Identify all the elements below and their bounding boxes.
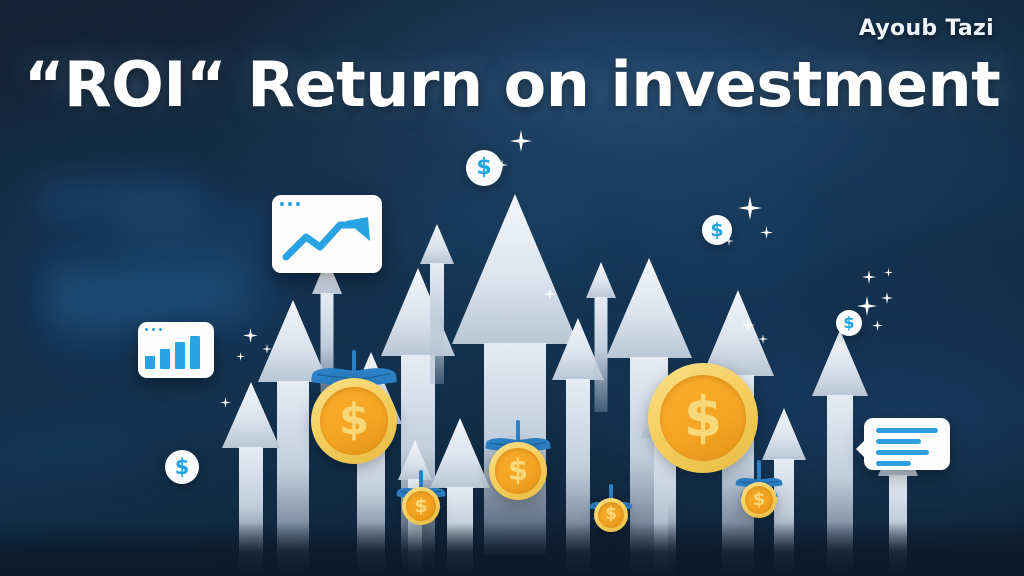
trend-up-icon <box>280 211 374 263</box>
bubble-line-2 <box>876 439 921 444</box>
growth-arrow-icon <box>586 262 616 412</box>
coin-large-left[interactable]: $ <box>311 378 397 464</box>
arrow-head <box>222 382 280 448</box>
ground-shadow <box>0 522 1024 576</box>
page-title: “ROI“ Return on investment <box>0 48 1024 121</box>
coin-small-center[interactable]: $ <box>594 498 628 532</box>
coin-face: $ <box>745 486 773 514</box>
bar <box>190 336 200 369</box>
bar-chart-bars <box>145 336 207 369</box>
sparkle-star-icon <box>862 270 876 284</box>
dollar-sign-icon: $ <box>414 497 427 516</box>
coin-face: $ <box>406 491 436 521</box>
sparkle-star-icon <box>243 328 258 343</box>
bubble-line-4 <box>876 461 911 466</box>
coin-face: $ <box>320 387 387 454</box>
bar-chart-card-dots <box>145 328 207 331</box>
dollar-sign-icon: $ <box>753 491 766 509</box>
bar <box>175 342 185 369</box>
coin-face: $ <box>660 375 746 461</box>
arrow-head <box>762 408 806 460</box>
sparkle-star-icon <box>510 130 532 152</box>
line-chart-card[interactable] <box>272 195 382 273</box>
text-bubble-card[interactable] <box>864 418 950 470</box>
sparkle-star-icon <box>236 352 245 361</box>
dollar-badge-left[interactable]: $ <box>165 450 199 484</box>
bokeh-shape <box>0 420 140 474</box>
dollar-sign-icon: $ <box>508 456 528 485</box>
author-name: Ayoub Tazi <box>859 16 994 41</box>
coin-large-right[interactable]: $ <box>648 363 758 473</box>
sparkle-star-icon <box>884 268 893 277</box>
dollar-sign-icon: $ <box>339 399 369 442</box>
dollar-sign-icon: $ <box>476 157 491 179</box>
dollar-badge-top-center[interactable]: $ <box>466 150 502 186</box>
arrow-head <box>420 224 454 264</box>
bubble-line-1 <box>876 428 938 433</box>
arrow-head <box>398 440 432 480</box>
dollar-sign-icon: $ <box>175 457 190 478</box>
coin-medium-center[interactable]: $ <box>489 442 547 500</box>
arrow-head <box>430 418 490 488</box>
bar <box>160 349 170 369</box>
bokeh-shape <box>56 282 226 326</box>
growth-arrow-icon <box>420 224 454 384</box>
dollar-sign-icon: $ <box>605 506 617 523</box>
sparkle-star-icon <box>881 292 893 304</box>
arrow-shaft <box>430 263 444 384</box>
dollar-sign-icon: $ <box>684 390 722 445</box>
coin-small-left[interactable]: $ <box>402 487 440 525</box>
arrow-head <box>586 262 616 298</box>
bar <box>145 356 155 369</box>
line-chart-card-dots <box>280 202 374 206</box>
dollar-sign-icon: $ <box>843 315 854 331</box>
coin-small-right[interactable]: $ <box>741 482 777 518</box>
arrow-head <box>812 330 868 396</box>
coin-face: $ <box>598 502 625 529</box>
arrow-head <box>606 258 692 358</box>
coin-face: $ <box>495 448 540 493</box>
sparkle-star-icon <box>872 320 883 331</box>
bar-chart-card[interactable] <box>138 322 214 378</box>
arrow-shaft <box>595 297 608 412</box>
sparkle-star-icon <box>857 296 877 316</box>
dollar-sign-icon: $ <box>710 221 723 240</box>
dollar-badge-top-right[interactable]: $ <box>702 215 732 245</box>
dollar-badge-right[interactable]: $ <box>836 310 862 336</box>
bubble-line-3 <box>876 450 929 455</box>
roi-slide: $$$$$$ $$$$ Ayoub Tazi “ROI“ Return on i… <box>0 0 1024 576</box>
